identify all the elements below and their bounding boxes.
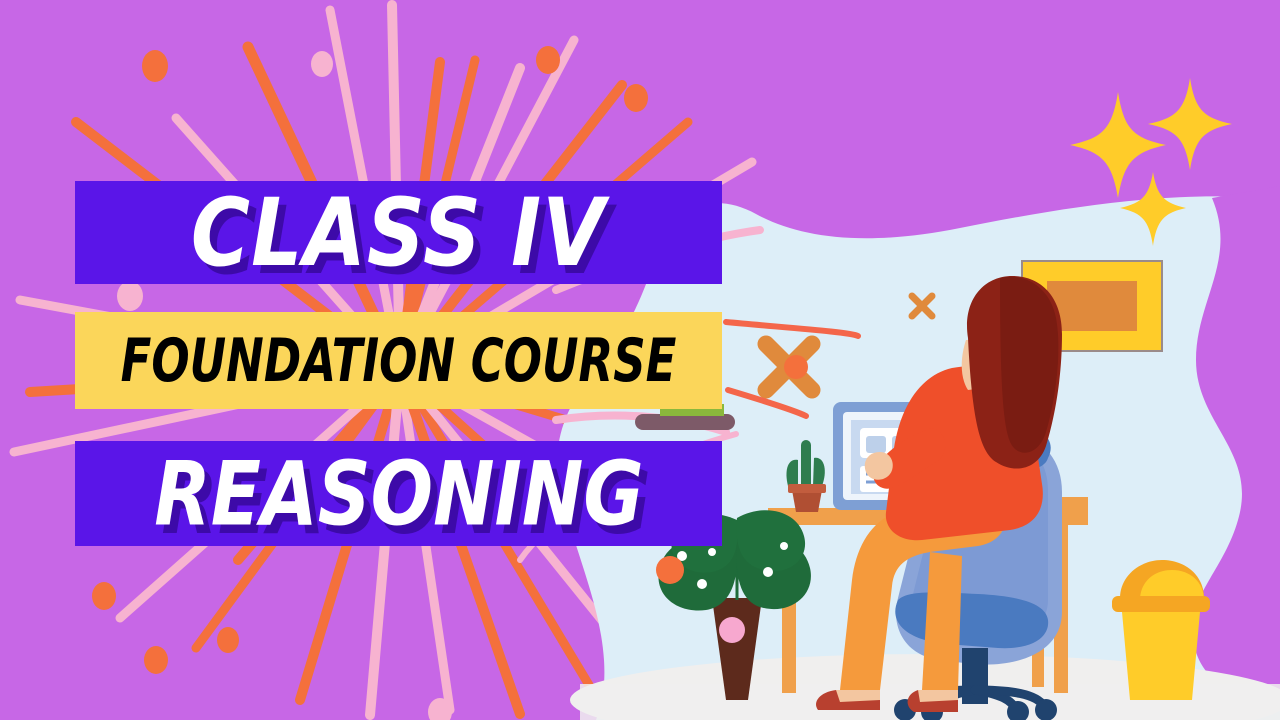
banner-reasoning: REASONING bbox=[75, 441, 722, 546]
sparkle-star-medium bbox=[1148, 78, 1232, 170]
banner-foundation-text: FOUNDATION COURSE bbox=[121, 326, 677, 396]
banner-foundation: FOUNDATION COURSE bbox=[75, 312, 722, 409]
poster-canvas: CLASS IV FOUNDATION COURSE REASONING bbox=[0, 0, 1280, 720]
banner-class-text: CLASS IV bbox=[191, 178, 606, 287]
banner-reasoning-text: REASONING bbox=[154, 442, 643, 544]
wall-shelf bbox=[635, 414, 735, 430]
banner-class: CLASS IV bbox=[75, 181, 722, 284]
